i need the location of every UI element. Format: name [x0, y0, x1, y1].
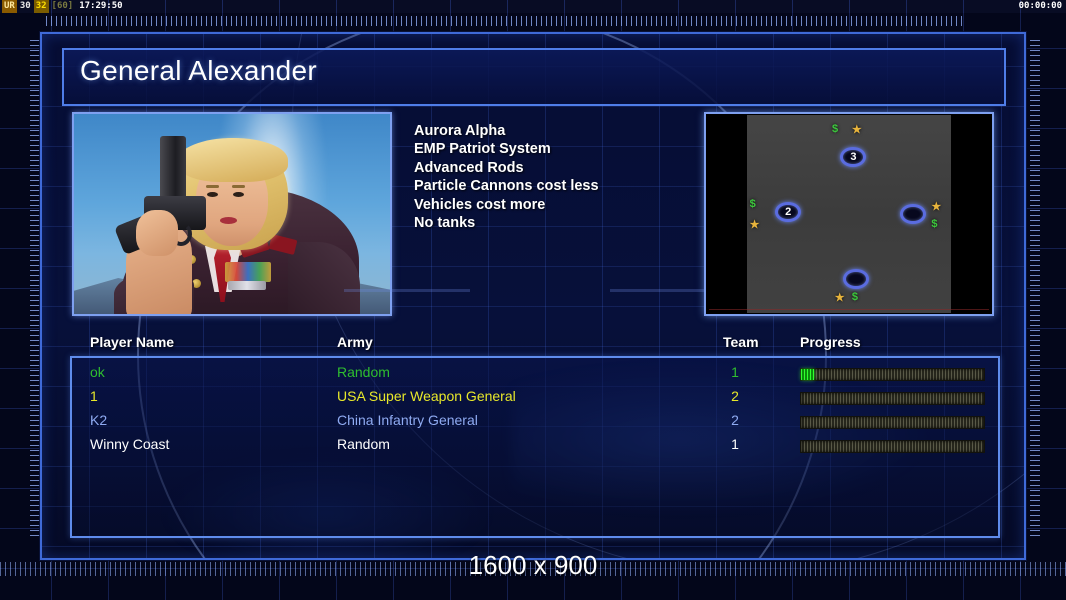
army-cell[interactable]: China Infantry General: [337, 412, 478, 428]
supply-cash-icon: $: [852, 291, 858, 303]
progress-bar: [800, 416, 985, 429]
stats-max: [60]: [52, 0, 74, 13]
header-army: Army: [337, 334, 373, 350]
supply-crate-icon: ★: [750, 218, 760, 231]
decorative-line-right: [610, 289, 704, 292]
resolution-label: 1600 x 900: [0, 550, 1066, 581]
team-cell[interactable]: 1: [722, 436, 748, 452]
map-start-position[interactable]: 3: [840, 147, 866, 167]
ability-item: Aurora Alpha: [414, 122, 674, 140]
general-abilities-list: Aurora Alpha EMP Patriot System Advanced…: [414, 122, 674, 232]
supply-cash-icon: $: [931, 218, 937, 230]
team-cell[interactable]: 1: [722, 364, 748, 380]
table-row[interactable]: K2China Infantry General2: [72, 412, 998, 436]
stats-clock: 17:29:50: [79, 0, 122, 13]
supply-crate-icon: ★: [852, 123, 862, 136]
army-cell[interactable]: USA Super Weapon General: [337, 388, 516, 404]
team-cell[interactable]: 2: [722, 412, 748, 428]
header-player-name: Player Name: [90, 334, 174, 350]
general-portrait-frame: [72, 112, 392, 316]
stats-label: UR: [2, 0, 17, 13]
supply-cash-icon: $: [750, 198, 756, 210]
player-name-cell: Winny Coast: [90, 436, 169, 452]
player-name-cell: 1: [90, 388, 98, 404]
header-progress: Progress: [800, 334, 861, 350]
ability-item: Particle Cannons cost less: [414, 177, 674, 195]
ruler-left: [30, 40, 40, 540]
decorative-line-left: [344, 289, 470, 292]
page-title: General Alexander: [80, 55, 317, 87]
supply-crate-icon: ★: [835, 291, 845, 304]
os-status-bar: UR 30 32 [60] 17:29:50 00:00:00: [0, 0, 1066, 13]
stats-fps: 30: [20, 0, 31, 13]
performance-stats: UR 30 32 [60] 17:29:50: [2, 0, 123, 13]
stats-current: 32: [34, 0, 49, 13]
desktop-background: UR 30 32 [60] 17:29:50 00:00:00 General …: [0, 0, 1066, 600]
supply-crate-icon: ★: [931, 200, 941, 213]
progress-bar-fill: [801, 369, 814, 380]
ability-item: EMP Patriot System: [414, 140, 674, 158]
progress-bar: [800, 440, 985, 453]
map-boundary: [709, 309, 989, 310]
window-titlebar: General Alexander: [62, 48, 1006, 104]
table-row[interactable]: Winny CoastRandom1: [72, 436, 998, 460]
army-cell[interactable]: Random: [337, 364, 390, 380]
player-name-cell: ok: [90, 364, 105, 380]
supply-cash-icon: $: [832, 123, 838, 135]
ruler-right: [1030, 40, 1040, 540]
ability-item: Vehicles cost more: [414, 196, 674, 214]
map-preview[interactable]: 32$★$★★$★$: [704, 112, 994, 316]
session-timer: 00:00:00: [1019, 0, 1062, 13]
header-team: Team: [723, 334, 759, 350]
ruler-top: [46, 16, 962, 26]
player-list: okRandom11USA Super Weapon General2K2Chi…: [70, 356, 1000, 538]
team-cell[interactable]: 2: [722, 388, 748, 404]
progress-bar: [800, 392, 985, 405]
game-setup-window: General Alexander: [40, 32, 1026, 560]
table-row[interactable]: 1USA Super Weapon General2: [72, 388, 998, 412]
player-name-cell: K2: [90, 412, 107, 428]
general-portrait-image: [74, 114, 390, 314]
progress-bar: [800, 368, 985, 381]
ability-item: Advanced Rods: [414, 159, 674, 177]
army-cell[interactable]: Random: [337, 436, 390, 452]
table-row[interactable]: okRandom1: [72, 364, 998, 388]
os-status-bar-grid: [0, 0, 1066, 13]
ability-item: No tanks: [414, 214, 674, 232]
map-preview-canvas: 32$★$★★$★$: [707, 115, 991, 313]
